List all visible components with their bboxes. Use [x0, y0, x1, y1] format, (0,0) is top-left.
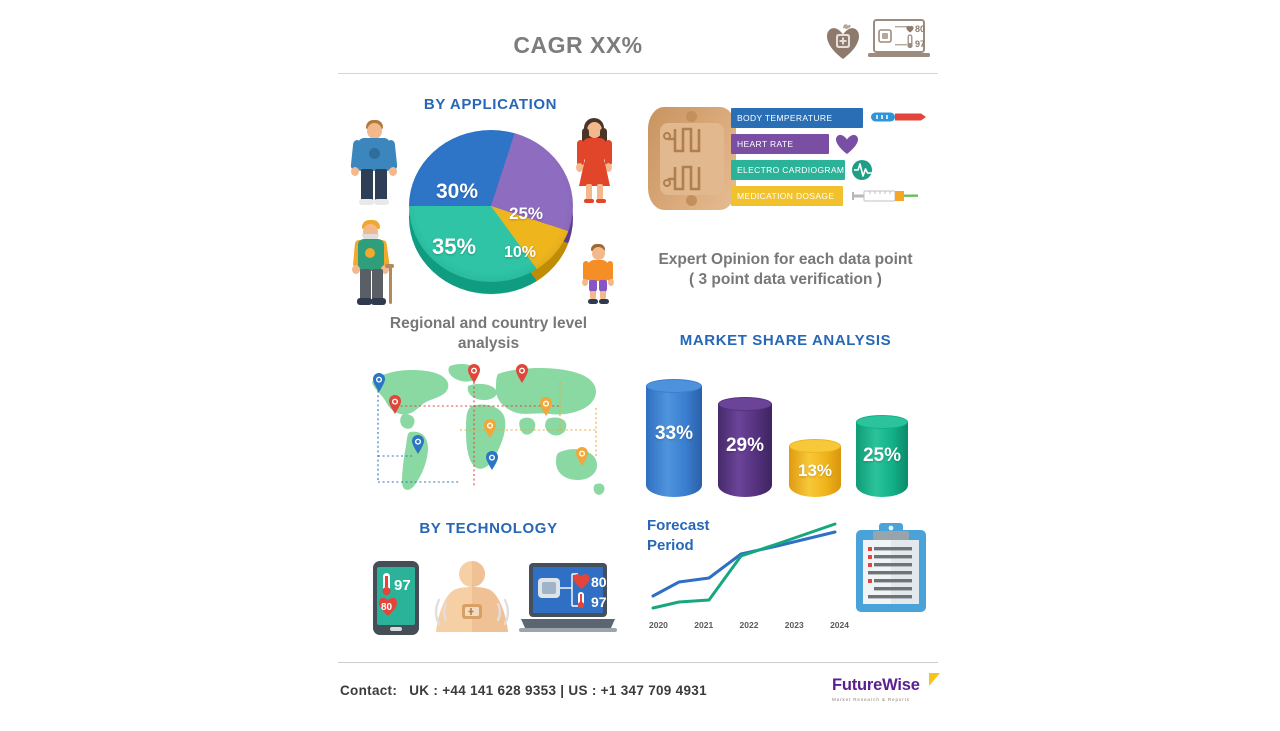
market-share-bar-4: 25% [856, 415, 908, 497]
parameter-bars: BODY TEMPERATURE HEART RATE ELECTRO CARD… [731, 108, 936, 212]
forecast-section: Forecast Period 2020 2021 2022 2023 2024 [643, 512, 935, 637]
laptop-vitals-tech-icon: 80 97 [519, 562, 617, 636]
clipboard-icon [855, 522, 927, 614]
contact-phones: UK : +44 141 628 9353 | US : +1 347 709 … [409, 683, 707, 698]
header-icon-group: 80 97 [826, 18, 930, 60]
regional-title-line-2: analysis [346, 334, 631, 354]
pie-slice-label-4: 35% [432, 234, 476, 260]
world-map [364, 360, 614, 505]
parameter-row-heart-rate: HEART RATE [731, 134, 936, 158]
contact-label: Contact: [340, 683, 397, 698]
forecast-year-2024: 2024 [830, 620, 849, 630]
contact-line: Contact: UK : +44 141 628 9353 | US : +1… [340, 683, 707, 698]
parameter-row-electro-cardiogram: ELECTRO CARDIOGRAM [731, 160, 936, 184]
elderly-man-figure [348, 220, 400, 306]
forecast-year-2023: 2023 [785, 620, 804, 630]
biosensor-chip-icon [648, 107, 736, 210]
forecast-year-axis: 2020 2021 2022 2023 2024 [649, 620, 849, 630]
forecast-series-green [653, 524, 835, 608]
pie-slice-label-3: 10% [504, 244, 536, 262]
heart-icon [835, 133, 859, 155]
market-share-bar-1: 33% [646, 379, 702, 497]
sensor-parameters-section: BODY TEMPERATURE HEART RATE ELECTRO CARD… [643, 100, 933, 220]
parameter-label-body-temperature: BODY TEMPERATURE [731, 108, 863, 128]
expert-opinion-note: Expert Opinion for each data point ( 3 p… [638, 250, 933, 291]
footer-divider [338, 662, 938, 663]
phone-temp-value: 97 [394, 577, 411, 594]
parameter-label-heart-rate: HEART RATE [731, 134, 829, 154]
by-technology-title: BY TECHNOLOGY [346, 520, 631, 537]
thermometer-icon [869, 107, 929, 127]
parameter-row-body-temperature: BODY TEMPERATURE [731, 108, 936, 132]
forecast-year-2020: 2020 [649, 620, 668, 630]
phone-pulse-value: 80 [381, 602, 393, 613]
market-share-value-1: 33% [646, 423, 702, 445]
header: CAGR XX% 80 [338, 0, 938, 74]
laptop-top-value: 80 [915, 24, 925, 34]
body-sensor-icon [424, 560, 520, 638]
parameter-label-medication-dosage: MEDICATION DOSAGE [731, 186, 843, 206]
logo-tagline: Market Research & Reports [832, 697, 938, 702]
pie-slice-label-1: 30% [436, 180, 478, 204]
parameter-row-medication-dosage: MEDICATION DOSAGE [731, 186, 936, 210]
logo-arrow-icon [929, 673, 940, 686]
market-share-value-4: 25% [856, 445, 908, 467]
infographic-sheet: CAGR XX% 80 [338, 0, 938, 731]
application-pie-chart: 30% 25% 10% 35% [406, 122, 576, 302]
expert-opinion-line-1: Expert Opinion for each data point [638, 250, 933, 270]
forecast-series-blue [653, 532, 835, 596]
by-technology-graphics: 97 80 80 [364, 556, 619, 638]
walking-cane-icon [389, 266, 392, 304]
laptop-temp-value: 97 [591, 594, 607, 610]
regional-title-line-1: Regional and country level [346, 314, 631, 334]
laptop-vitals-icon: 80 97 [868, 18, 930, 60]
by-application-title: BY APPLICATION [348, 96, 633, 113]
heart-medical-icon [826, 22, 860, 60]
infographic-page: CAGR XX% 80 [0, 0, 1280, 731]
forecast-year-2021: 2021 [694, 620, 713, 630]
forecast-line-chart [649, 520, 849, 620]
page-title: CAGR XX% [338, 32, 818, 59]
ecg-icon [851, 159, 875, 181]
market-share-value-2: 29% [718, 435, 772, 457]
market-share-bar-2: 29% [718, 397, 772, 497]
market-share-value-3: 13% [789, 461, 841, 481]
regional-analysis-title: Regional and country level analysis [346, 314, 631, 355]
logo-wordmark: FutureWise [832, 676, 938, 695]
header-divider [338, 73, 938, 74]
adult-woman-figure [571, 118, 617, 204]
laptop-pulse-value: 80 [591, 574, 607, 590]
syringe-icon [849, 187, 921, 205]
adult-man-figure [350, 120, 398, 206]
market-share-bar-3: 13% [789, 439, 841, 497]
expert-opinion-line-2: ( 3 point data verification ) [638, 270, 933, 290]
smartphone-vitals-icon: 97 80 [372, 560, 420, 636]
parameter-label-electro-cardiogram: ELECTRO CARDIOGRAM [731, 160, 845, 180]
futurewise-logo[interactable]: FutureWise Market Research & Reports [832, 676, 938, 702]
child-figure [580, 244, 616, 306]
market-share-section: MARKET SHARE ANALYSIS 33% 29% 13% 25% [638, 332, 933, 497]
world-map-graphic [364, 360, 614, 505]
pie-slice-label-2: 25% [509, 204, 543, 224]
laptop-bottom-value: 97 [915, 39, 925, 49]
by-application-section: BY APPLICATION [348, 96, 633, 311]
market-share-title: MARKET SHARE ANALYSIS [638, 332, 933, 349]
forecast-year-2022: 2022 [740, 620, 759, 630]
